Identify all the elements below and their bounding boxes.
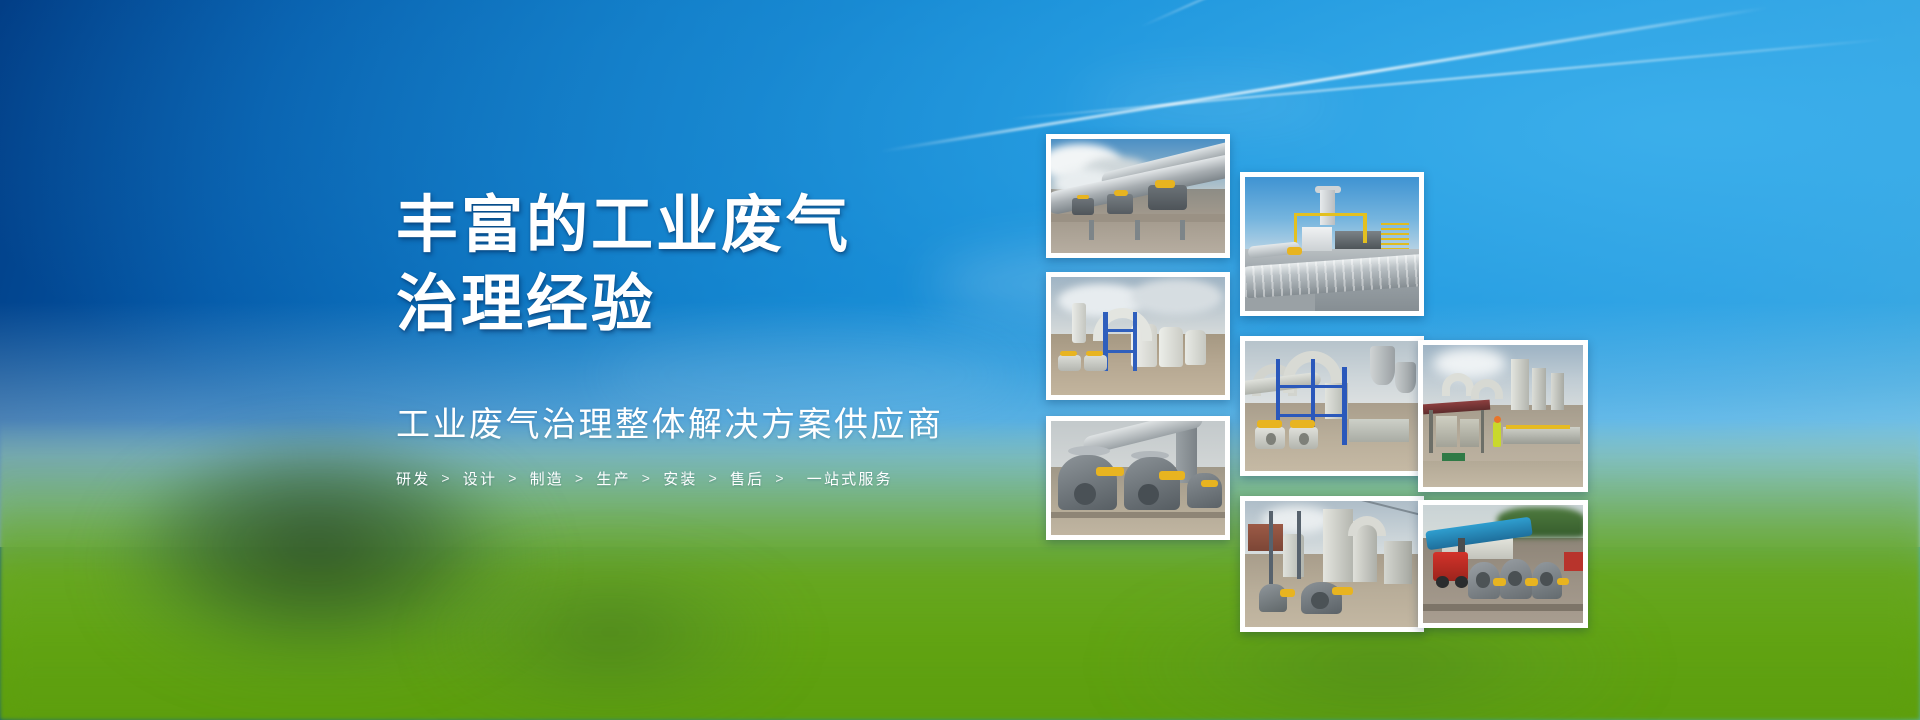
breadcrumb-step-production: 生产 [596, 468, 630, 489]
gallery-photo-7[interactable] [1418, 340, 1588, 492]
breadcrumb-step-manufacture: 制造 [530, 468, 564, 489]
breadcrumb-step-rd: 研发 [396, 468, 430, 489]
photo-image [1245, 177, 1419, 311]
breadcrumb-step-design: 设计 [463, 468, 497, 489]
gallery-photo-6[interactable] [1240, 496, 1424, 632]
breadcrumb-step-one-stop-service: 一站式服务 [807, 468, 893, 489]
breadcrumb-separator-icon: > [508, 470, 518, 486]
breadcrumb-step-installation: 安装 [663, 468, 697, 489]
breadcrumb-separator-icon: > [709, 470, 719, 486]
gallery-photo-8[interactable] [1418, 500, 1588, 628]
photo-image [1423, 505, 1583, 623]
headline-line-1: 丰富的工业废气 [396, 191, 851, 260]
headline-line-2: 治理经验 [396, 265, 1116, 344]
process-breadcrumb: 研发 > 设计 > 制造 > 生产 > 安装 > 售后 > 一站式服务 [396, 468, 1116, 489]
photo-image [1245, 341, 1419, 471]
photo-image [1423, 345, 1583, 487]
hero-banner: 丰富的工业废气 治理经验 工业废气治理整体解决方案供应商 研发 > 设计 > 制… [0, 0, 1920, 720]
hero-copy-block: 丰富的工业废气 治理经验 工业废气治理整体解决方案供应商 研发 > 设计 > 制… [396, 186, 1116, 489]
breadcrumb-step-aftersales: 售后 [730, 468, 764, 489]
breadcrumb-separator-icon: > [775, 470, 785, 486]
hero-subtitle: 工业废气治理整体解决方案供应商 [396, 405, 1116, 446]
gallery-photo-4[interactable] [1240, 172, 1424, 316]
photo-image [1245, 501, 1419, 627]
breadcrumb-separator-icon: > [575, 470, 585, 486]
page-title: 丰富的工业废气 治理经验 [396, 186, 1116, 345]
breadcrumb-separator-icon: > [441, 470, 451, 486]
gallery-photo-5[interactable] [1240, 336, 1424, 476]
breadcrumb-separator-icon: > [642, 470, 652, 486]
